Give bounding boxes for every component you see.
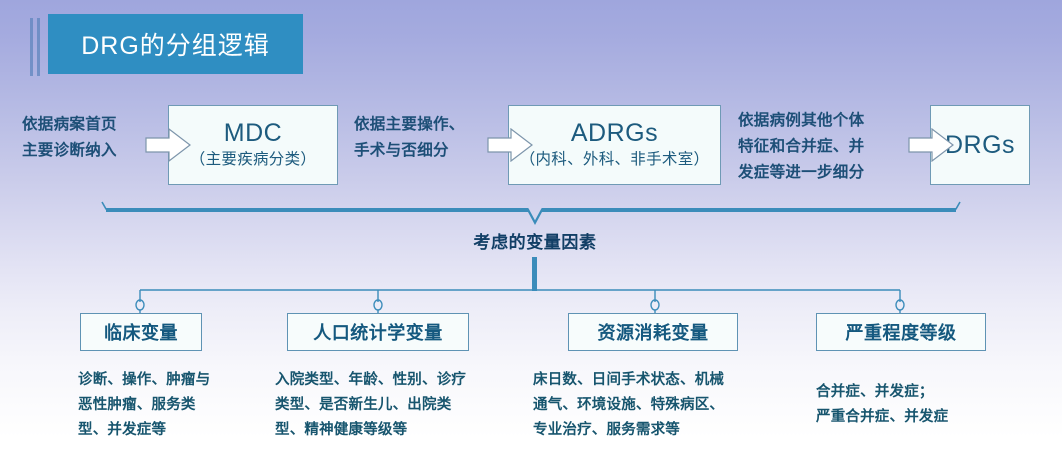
diagram-canvas: DRG的分组逻辑 依据病案首页 主要诊断纳入 MDC （主要疾病分类） 依据主要… (0, 0, 1062, 461)
page-title: DRG的分组逻辑 (81, 26, 270, 62)
block-arrow-right-icon-3 (908, 128, 954, 162)
category-label-clinical: 临床变量 (104, 319, 178, 345)
grouping-brace (100, 200, 962, 231)
title-banner: DRG的分组逻辑 (48, 14, 303, 74)
flow-label-2: 依据主要操作、 手术与否细分 (354, 112, 465, 164)
category-label-resource: 资源消耗变量 (598, 319, 709, 345)
category-desc-resource: 床日数、日间手术状态、机械 通气、环境设施、特殊病区、 专业治疗、服务需求等 (533, 368, 803, 443)
node-drgs-title: DRGs (945, 130, 1015, 160)
node-mdc: MDC （主要疾病分类） (168, 105, 338, 185)
category-box-demographic: 人口统计学变量 (287, 313, 469, 351)
node-adrgs-subtitle: （内科、外科、非手术室） (520, 148, 710, 172)
node-adrgs-title: ADRGs (571, 118, 658, 148)
flow-label-3: 依据病例其他个体 特征和合并症、并 发症等进一步细分 (738, 108, 864, 186)
title-accent-bars (30, 18, 44, 76)
flow-label-1: 依据病案首页 主要诊断纳入 (22, 112, 117, 164)
node-adrgs: ADRGs （内科、外科、非手术室） (508, 105, 721, 185)
category-desc-clinical: 诊断、操作、肿瘤与 恶性肿瘤、服务类 型、并发症等 (78, 368, 278, 443)
category-box-severity: 严重程度等级 (816, 313, 986, 351)
category-box-resource: 资源消耗变量 (568, 313, 738, 351)
category-box-clinical: 临床变量 (80, 313, 202, 351)
node-mdc-title: MDC (224, 118, 282, 148)
category-desc-severity: 合并症、并发症； 严重合并症、并发症 (816, 380, 1046, 430)
tree-connectors (0, 255, 1062, 320)
category-desc-demographic: 入院类型、年龄、性别、诊疗 类型、是否新生儿、出院类 型、精神健康等级等 (275, 368, 535, 443)
category-label-severity: 严重程度等级 (846, 319, 957, 345)
category-label-demographic: 人口统计学变量 (313, 319, 443, 345)
block-arrow-right-icon-1 (145, 128, 191, 162)
node-mdc-subtitle: （主要疾病分类） (190, 148, 316, 172)
block-arrow-right-icon-2 (487, 128, 533, 162)
center-label-variables: 考虑的变量因素 (435, 228, 635, 253)
